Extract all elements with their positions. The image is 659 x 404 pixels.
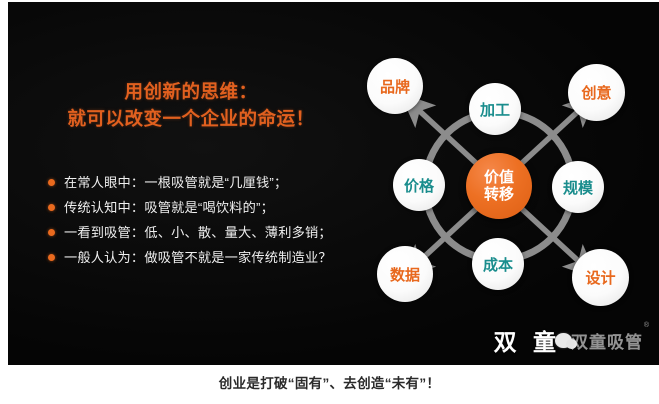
- diagram-node-processing[interactable]: 加工: [469, 83, 521, 135]
- diagram-node-design[interactable]: 设计: [572, 249, 629, 306]
- bullet-dot-icon: [48, 254, 55, 261]
- bullet-dot-icon: [48, 229, 55, 236]
- list-item: 在常人眼中：一根吸管就是“几厘钱”；: [48, 170, 368, 194]
- diagram-node-creative-label: 创意: [581, 82, 611, 103]
- slide-headline: 用创新的思维： 就可以改变一个企业的命运！: [26, 78, 356, 132]
- diagram-node-price[interactable]: 价格: [393, 159, 445, 211]
- list-item-label: 一般人认为：做吸管不就是一家传统制造业？: [64, 250, 332, 265]
- brand-logo-watermark: 双 童 双童吸管 ®: [494, 323, 643, 357]
- registered-mark-icon: ®: [644, 322, 650, 329]
- list-item: 一般人认为：做吸管不就是一家传统制造业？: [48, 245, 368, 269]
- slide-caption: 创业是打破“固有”、去创造“未有”！: [0, 372, 659, 392]
- arrow-to-brand: [412, 104, 476, 163]
- bullet-list: 在常人眼中：一根吸管就是“几厘钱”； 传统认知中：吸管就是“喝饮料的”； 一看到…: [48, 170, 368, 270]
- headline-line-1: 用创新的思维：: [26, 78, 356, 105]
- list-item-label: 一看到吸管：低、小、散、量大、薄利多销；: [64, 225, 332, 240]
- diagram-node-creative[interactable]: 创意: [568, 64, 625, 121]
- brand-name: 双 童: [494, 323, 561, 357]
- diagram-node-data[interactable]: 数据: [377, 246, 433, 302]
- presentation-slide: 用创新的思维： 就可以改变一个企业的命运！ 在常人眼中：一根吸管就是“几厘钱”；…: [8, 2, 659, 365]
- watermark-label: 双童吸管: [571, 333, 643, 352]
- diagram-node-data-label: 数据: [390, 264, 420, 285]
- wechat-icon: [555, 333, 572, 348]
- diagram-node-processing-label: 加工: [480, 99, 510, 120]
- diagram-node-design-label: 设计: [585, 267, 615, 288]
- diagram-node-price-label: 价格: [404, 175, 434, 196]
- center-label-line-2: 转移: [484, 186, 514, 203]
- headline-line-2: 就可以改变一个企业的命运！: [26, 105, 356, 132]
- slide-page: 用创新的思维： 就可以改变一个企业的命运！ 在常人眼中：一根吸管就是“几厘钱”；…: [0, 0, 659, 404]
- diagram-node-cost[interactable]: 成本: [472, 238, 524, 290]
- list-item: 传统认知中：吸管就是“喝饮料的”；: [48, 195, 368, 219]
- center-label-line-1: 价值: [484, 169, 514, 186]
- value-transfer-diagram: 品牌 创意 设计 数据 加工 规模 成本 价格: [358, 46, 658, 311]
- diagram-node-brand-label: 品牌: [380, 76, 410, 97]
- diagram-node-cost-label: 成本: [483, 254, 513, 275]
- bullet-dot-icon: [48, 179, 55, 186]
- bullet-dot-icon: [48, 204, 55, 211]
- diagram-node-scale-label: 规模: [563, 177, 593, 198]
- watermark-text: 双童吸管 ®: [571, 328, 643, 353]
- diagram-node-brand[interactable]: 品牌: [367, 58, 423, 114]
- arrow-to-design: [522, 209, 586, 268]
- diagram-node-scale[interactable]: 规模: [552, 161, 604, 213]
- list-item-label: 在常人眼中：一根吸管就是“几厘钱”；: [64, 175, 287, 190]
- diagram-node-center-value-transfer[interactable]: 价值 转移: [466, 153, 532, 219]
- list-item-label: 传统认知中：吸管就是“喝饮料的”；: [64, 200, 274, 215]
- list-item: 一看到吸管：低、小、散、量大、薄利多销；: [48, 220, 368, 244]
